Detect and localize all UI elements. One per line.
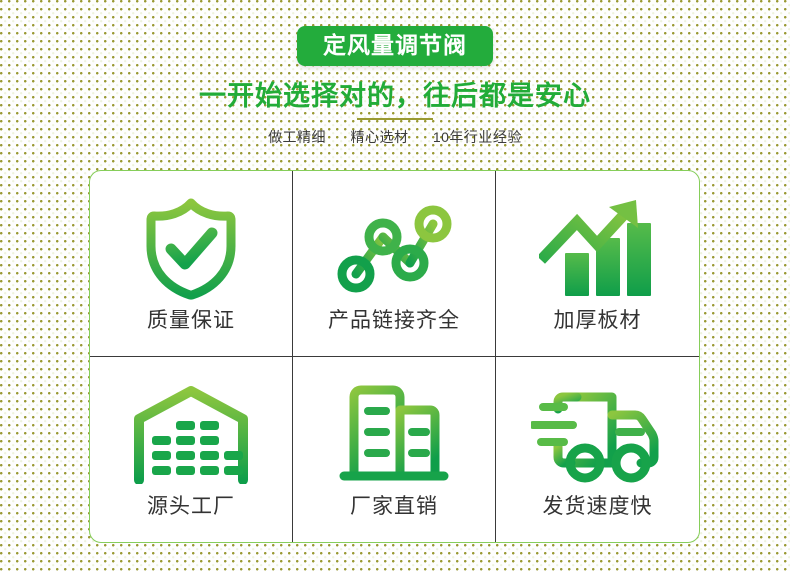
factory-icon [132,381,250,486]
subline-item-0: 做工精细 [268,129,326,145]
headline-divider [357,118,433,120]
buildings-icon [338,381,450,486]
growth-chart-icon [539,195,657,300]
feature-cell-source-factory[interactable]: 源头工厂 [90,357,293,543]
subline-item-1: 精心选材 [350,129,408,145]
link-network-icon [334,195,454,300]
feature-cell-quality[interactable]: 质量保证 [90,171,293,357]
feature-label: 源头工厂 [147,496,235,517]
feature-label: 发货速度快 [543,496,653,517]
product-title-badge: 定风量调节阀 [297,26,493,66]
feature-label: 产品链接齐全 [328,310,460,331]
feature-cell-fast-delivery[interactable]: 发货速度快 [496,357,699,543]
page-headline: 一开始选择对的，往后都是安心 [0,83,790,110]
subline-item-2: 10年行业经验 [433,129,522,145]
feature-cell-product-link[interactable]: 产品链接齐全 [293,171,496,357]
feature-label: 加厚板材 [554,310,642,331]
feature-cell-direct-sales[interactable]: 厂家直销 [293,357,496,543]
page-background: 定风量调节阀 一开始选择对的，往后都是安心 做工精细 精心选材 10年行业经验 [0,0,790,571]
header: 定风量调节阀 一开始选择对的，往后都是安心 做工精细 精心选材 10年行业经验 [0,0,790,144]
header-subline: 做工精细 精心选材 10年行业经验 [0,130,790,144]
feature-label: 厂家直销 [350,496,438,517]
feature-label: 质量保证 [147,310,235,331]
delivery-truck-icon [531,381,665,486]
feature-cell-thick-plate[interactable]: 加厚板材 [496,171,699,357]
shield-check-icon [140,195,242,300]
feature-grid-card: 质量保证 [89,170,700,543]
